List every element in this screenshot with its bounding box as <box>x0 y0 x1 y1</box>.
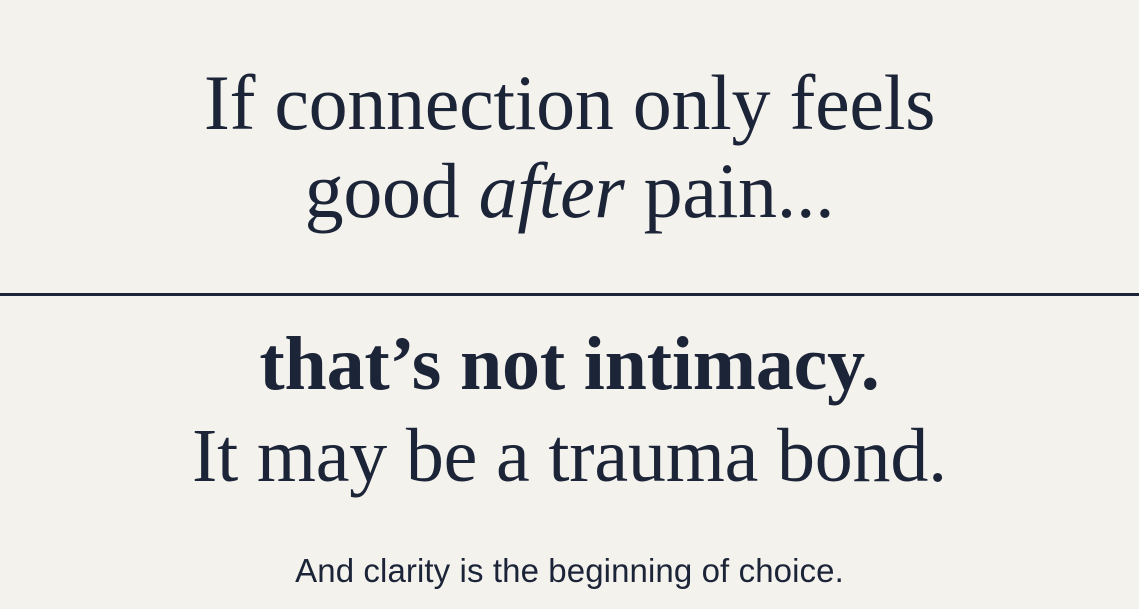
lower-text-block: that’s not intimacy. It may be a trauma … <box>0 296 1139 609</box>
sub-line: It may be a trauma bond. <box>192 415 947 499</box>
quote-card: If connection only feels good after pain… <box>0 0 1139 609</box>
headline-line-2-suffix: pain... <box>624 147 834 234</box>
upper-text-block: If connection only feels good after pain… <box>0 0 1139 293</box>
caption-text: And clarity is the beginning of choice. <box>295 551 844 591</box>
headline-line-2-prefix: good <box>305 147 479 234</box>
headline-line-2: good after pain... <box>305 147 835 234</box>
headline-emphasis-word: after <box>479 147 625 234</box>
punch-line: that’s not intimacy. <box>259 323 879 407</box>
headline-line-1: If connection only feels <box>204 59 935 146</box>
